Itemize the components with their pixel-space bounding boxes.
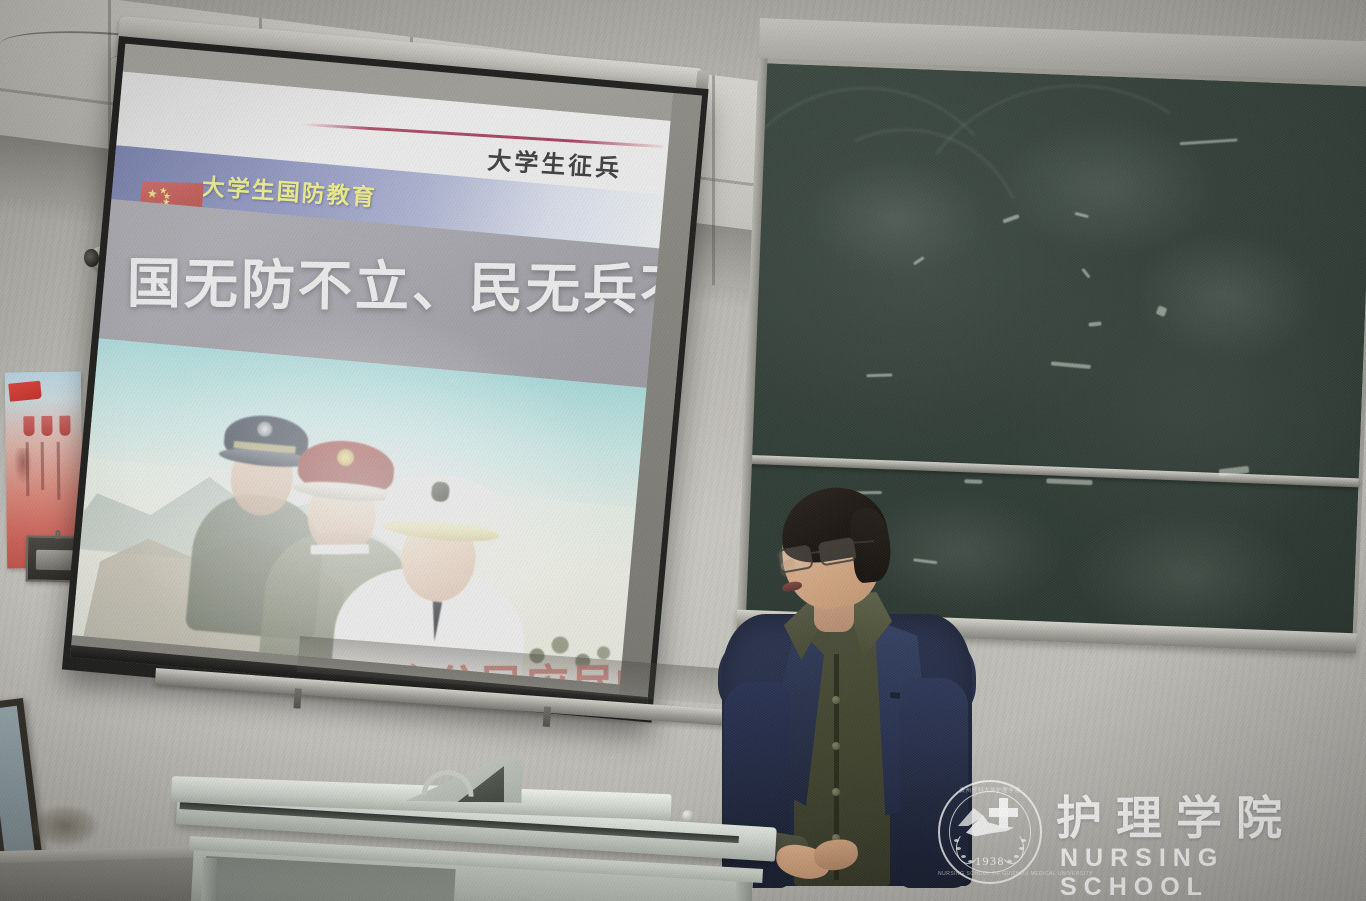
- poster-tag: [23, 416, 34, 436]
- classroom-photo-scene: 大学生征兵 大学生国防教育 ★ ★ ★ ★ ★: [0, 0, 1366, 901]
- lectern-leg-left: [201, 858, 217, 901]
- watermark-cn-text: 护理学院: [1056, 782, 1296, 848]
- poster-calligraphy: [14, 448, 32, 484]
- nursing-school-seal: 贵州医科大学护理学院 1938 NURSING SCHOOL OF GUIZHO…: [938, 780, 1042, 884]
- shirt-button: [832, 788, 840, 796]
- slide-photo: 依法服兵役是每个公民应尽的光荣义务: [72, 338, 652, 685]
- lectern: [150, 762, 790, 901]
- watermark: 贵州医科大学护理学院 1938 NURSING SCHOOL OF GUIZHO…: [938, 778, 1338, 888]
- medical-cross-icon-bar: [989, 808, 1018, 817]
- shirt-button: [832, 696, 840, 704]
- slide-headline: 国无防不立、民无兵不安: [127, 239, 650, 325]
- shirt-button: [832, 742, 840, 750]
- seal-arc-top-text: 贵州医科大学护理学院: [938, 786, 1042, 794]
- wall-stain: [30, 798, 108, 856]
- poster-flag-graphic: [8, 381, 42, 402]
- screen-surface: 大学生征兵 大学生国防教育 ★ ★ ★ ★ ★: [70, 44, 702, 709]
- poster-text-lines: [26, 442, 69, 501]
- lectern-screw: [682, 810, 694, 822]
- projected-slide: 大学生征兵 大学生国防教育 ★ ★ ★ ★ ★: [72, 71, 676, 685]
- poster-tag: [59, 416, 70, 436]
- seal-year: 1938: [938, 854, 1042, 869]
- poster-tag: [41, 416, 52, 436]
- poster-tag-row: [23, 416, 70, 437]
- box-hook: [55, 530, 60, 539]
- seal-arc-bottom-text: NURSING SCHOOL OF GUIZHOU MEDICAL UNIVER…: [938, 871, 1042, 877]
- lens-left: [776, 544, 814, 574]
- watermark-en-text: NURSING SCHOOL: [1060, 844, 1338, 901]
- projection-screen: 大学生征兵 大学生国防教育 ★ ★ ★ ★ ★: [62, 36, 709, 723]
